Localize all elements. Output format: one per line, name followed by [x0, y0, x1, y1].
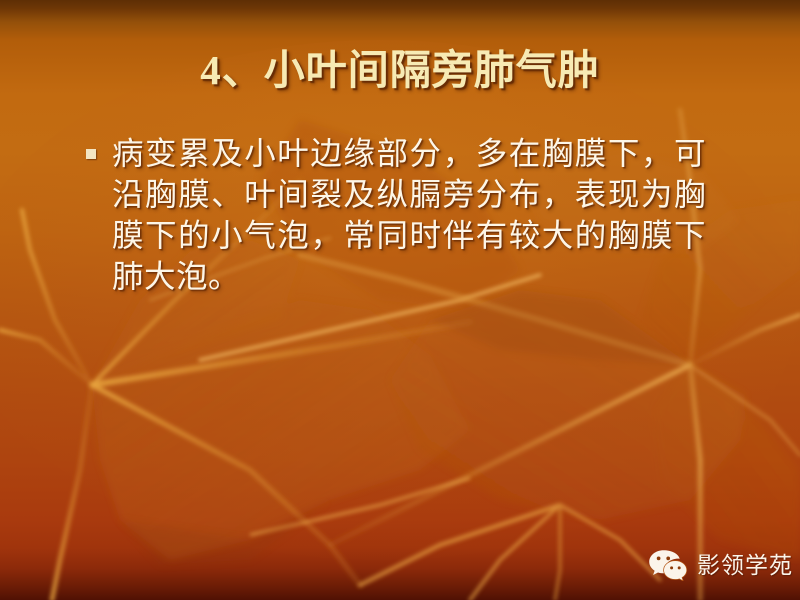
slide-title: 4、小叶间隔旁肺气肿	[0, 44, 800, 96]
wechat-icon	[648, 549, 688, 581]
watermark: 影领学苑	[648, 549, 793, 581]
bullet-item-text: 病变累及小叶边缘部分，多在胸膜下，可沿胸膜、叶间裂及纵膈旁分布，表现为胸膜下的小…	[112, 133, 706, 297]
slide-body: 病变累及小叶边缘部分，多在胸膜下，可沿胸膜、叶间裂及纵膈旁分布，表现为胸膜下的小…	[86, 133, 706, 297]
bullet-list-item: 病变累及小叶边缘部分，多在胸膜下，可沿胸膜、叶间裂及纵膈旁分布，表现为胸膜下的小…	[86, 133, 706, 297]
slide-canvas: 4、小叶间隔旁肺气肿 病变累及小叶边缘部分，多在胸膜下，可沿胸膜、叶间裂及纵膈旁…	[0, 0, 800, 600]
square-bullet-icon	[86, 149, 96, 159]
watermark-label: 影领学苑	[697, 552, 793, 578]
